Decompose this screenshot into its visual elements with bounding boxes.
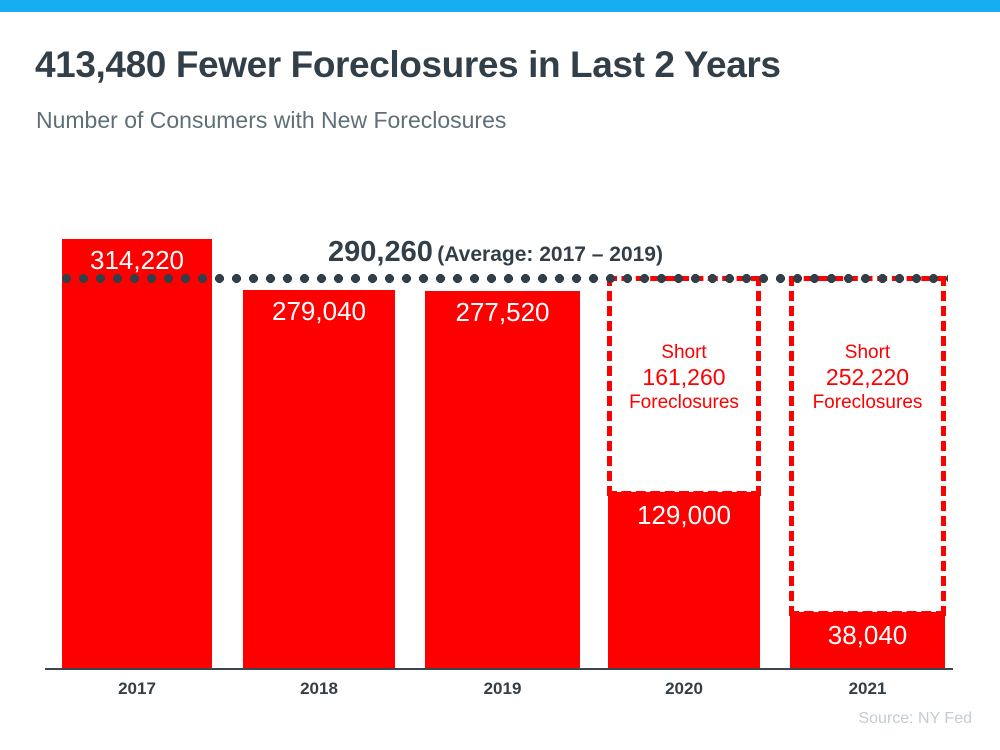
bar-2017 — [62, 239, 212, 668]
bar-value-label-2019: 277,520 — [425, 297, 580, 328]
shortfall-word-2021: Short — [789, 342, 946, 364]
source-note: Source: NY Fed — [858, 710, 972, 728]
average-reference-label: 290,260 (Average: 2017 – 2019) — [328, 236, 663, 269]
shortfall-text-2020: Short 161,260 Foreclosures — [607, 342, 761, 414]
chart-plot-area: 314,220 279,040 277,520 129,000 38,040 S… — [0, 0, 1000, 750]
shortfall-box-2021 — [789, 276, 946, 616]
bar-value-label-2018: 279,040 — [243, 296, 395, 327]
shortfall-word-2020: Short — [607, 342, 761, 364]
shortfall-unit-2021: Foreclosures — [789, 392, 946, 414]
shortfall-unit-2020: Foreclosures — [607, 392, 761, 414]
shortfall-number-2021: 252,220 — [789, 364, 946, 391]
x-tick-label-2020: 2020 — [608, 679, 760, 699]
bar-value-label-2017: 314,220 — [62, 245, 212, 276]
x-tick-label-2017: 2017 — [62, 679, 212, 699]
x-tick-label-2019: 2019 — [425, 679, 580, 699]
bar-value-label-2021: 38,040 — [790, 620, 945, 651]
average-caption: (Average: 2017 – 2019) — [437, 243, 663, 266]
average-value: 290,260 — [328, 236, 433, 268]
average-reference-line — [58, 274, 948, 283]
shortfall-text-2021: Short 252,220 Foreclosures — [789, 342, 946, 414]
bar-2018 — [243, 290, 395, 668]
bar-value-label-2020: 129,000 — [608, 500, 760, 531]
shortfall-number-2020: 161,260 — [607, 364, 761, 391]
x-tick-label-2021: 2021 — [790, 679, 945, 699]
bar-2019 — [425, 291, 580, 668]
x-axis-line — [45, 668, 953, 670]
x-tick-label-2018: 2018 — [243, 679, 395, 699]
